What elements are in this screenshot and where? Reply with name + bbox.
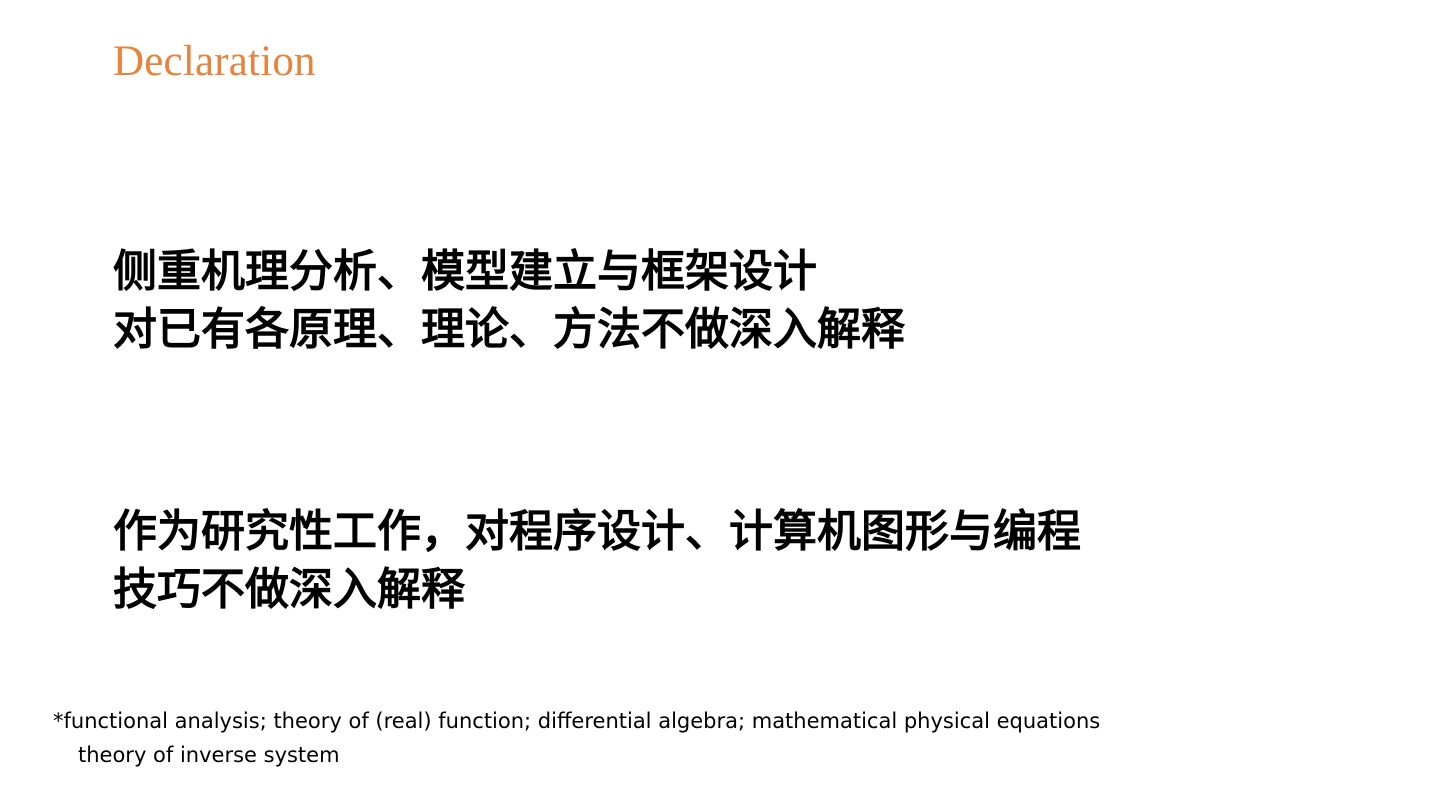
footnote: *functional analysis; theory of (real) f… [53,704,1100,772]
footnote-line: *functional analysis; theory of (real) f… [53,704,1100,738]
body-text-block-research-nature: 作为研究性工作，对程序设计、计算机图形与编程 技巧不做深入解释 [113,503,1081,619]
body-line: 作为研究性工作，对程序设计、计算机图形与编程 [113,503,1081,561]
body-line: 侧重机理分析、模型建立与框架设计 [113,243,905,301]
body-line: 对已有各原理、理论、方法不做深入解释 [113,301,905,359]
body-text-block-scope: 侧重机理分析、模型建立与框架设计 对已有各原理、理论、方法不做深入解释 [113,243,905,359]
footnote-line: theory of inverse system [53,738,1100,772]
body-line: 技巧不做深入解释 [113,561,1081,619]
page-title: Declaration [113,36,316,88]
slide-canvas: Declaration 侧重机理分析、模型建立与框架设计 对已有各原理、理论、方… [0,0,1440,810]
